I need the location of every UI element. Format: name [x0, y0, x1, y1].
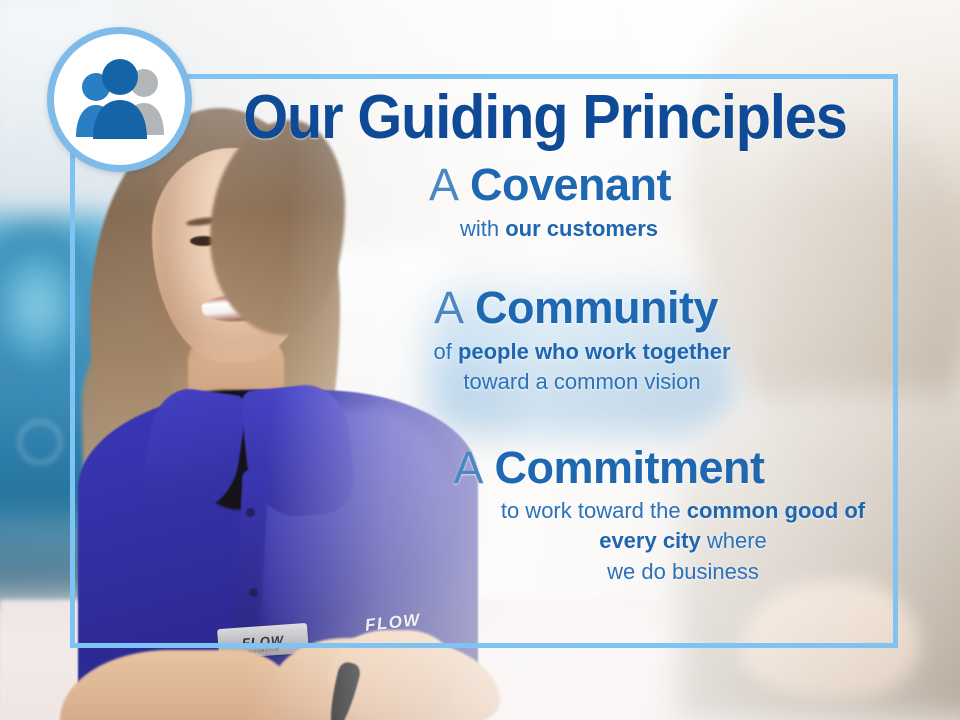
- employee-subject: FLOW AUTOMOTIVE FLOW: [60, 90, 480, 720]
- banner-stage: FLOW AUTOMOTIVE FLOW: [0, 0, 960, 720]
- foreground-customer: [640, 0, 960, 720]
- car-emblem: [18, 420, 62, 464]
- shirt-button-top: [246, 508, 255, 517]
- people-group-icon: [68, 57, 172, 143]
- shirt-button-bottom: [249, 588, 258, 597]
- people-badge: [47, 27, 192, 172]
